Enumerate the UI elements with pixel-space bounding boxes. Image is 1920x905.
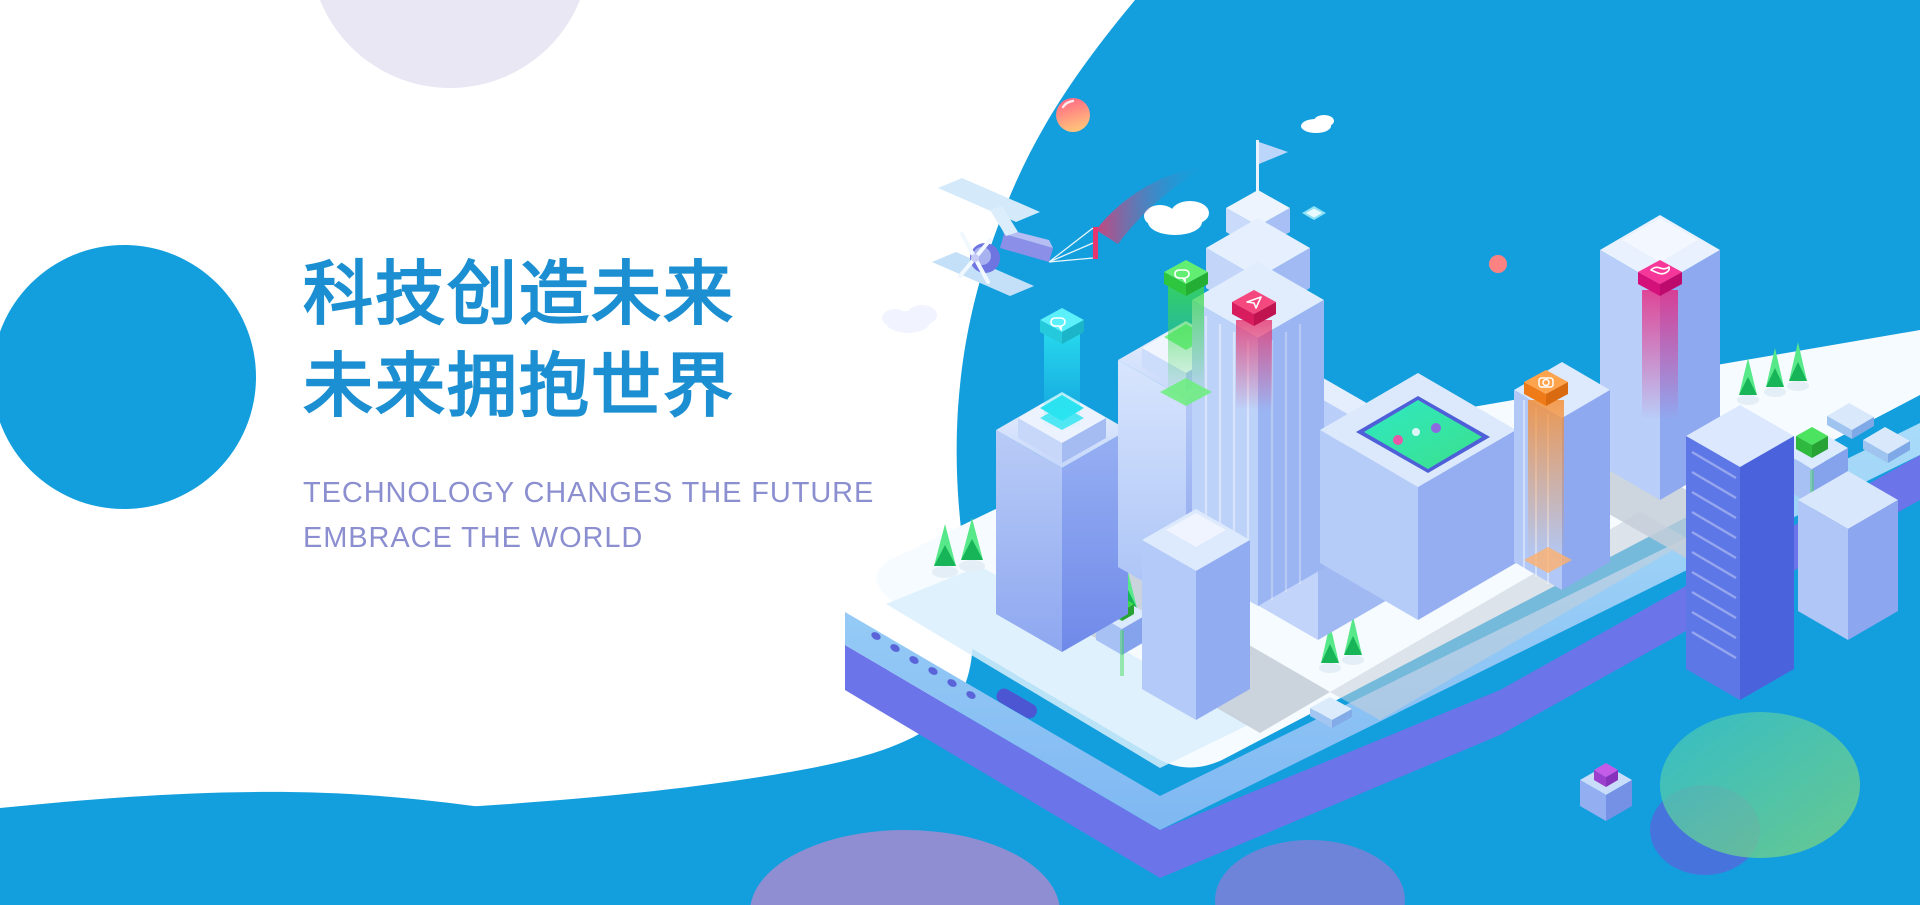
headline-line-2: 未来拥抱世界 [303,340,943,432]
glow-cube-purple [1580,763,1632,821]
page-subtitle: TECHNOLOGY CHANGES THE FUTURE EMBRACE TH… [303,471,943,561]
hero-banner: 科技创造未来 未来拥抱世界 TECHNOLOGY CHANGES THE FUT… [0,0,1920,905]
subtitle-line-1: TECHNOLOGY CHANGES THE FUTURE [303,471,943,516]
diamond-badge [1302,206,1326,220]
subtitle-line-2: EMBRACE THE WORLD [303,516,943,561]
headline-line-1: 科技创造未来 [303,248,943,340]
text-block: 科技创造未来 未来拥抱世界 TECHNOLOGY CHANGES THE FUT… [303,248,943,561]
plane-banner-pole [1093,227,1098,259]
flag [1259,142,1288,164]
cloud-small [1301,115,1334,133]
building-far-right-small [1798,471,1898,640]
building-hatched [1686,405,1794,905]
cloud-right [1144,201,1209,235]
isometric-city-illustration [0,0,1920,905]
plane-wing-upper [938,178,1040,222]
page-headline: 科技创造未来 未来拥抱世界 [303,248,943,433]
tow-lines [1049,228,1093,262]
